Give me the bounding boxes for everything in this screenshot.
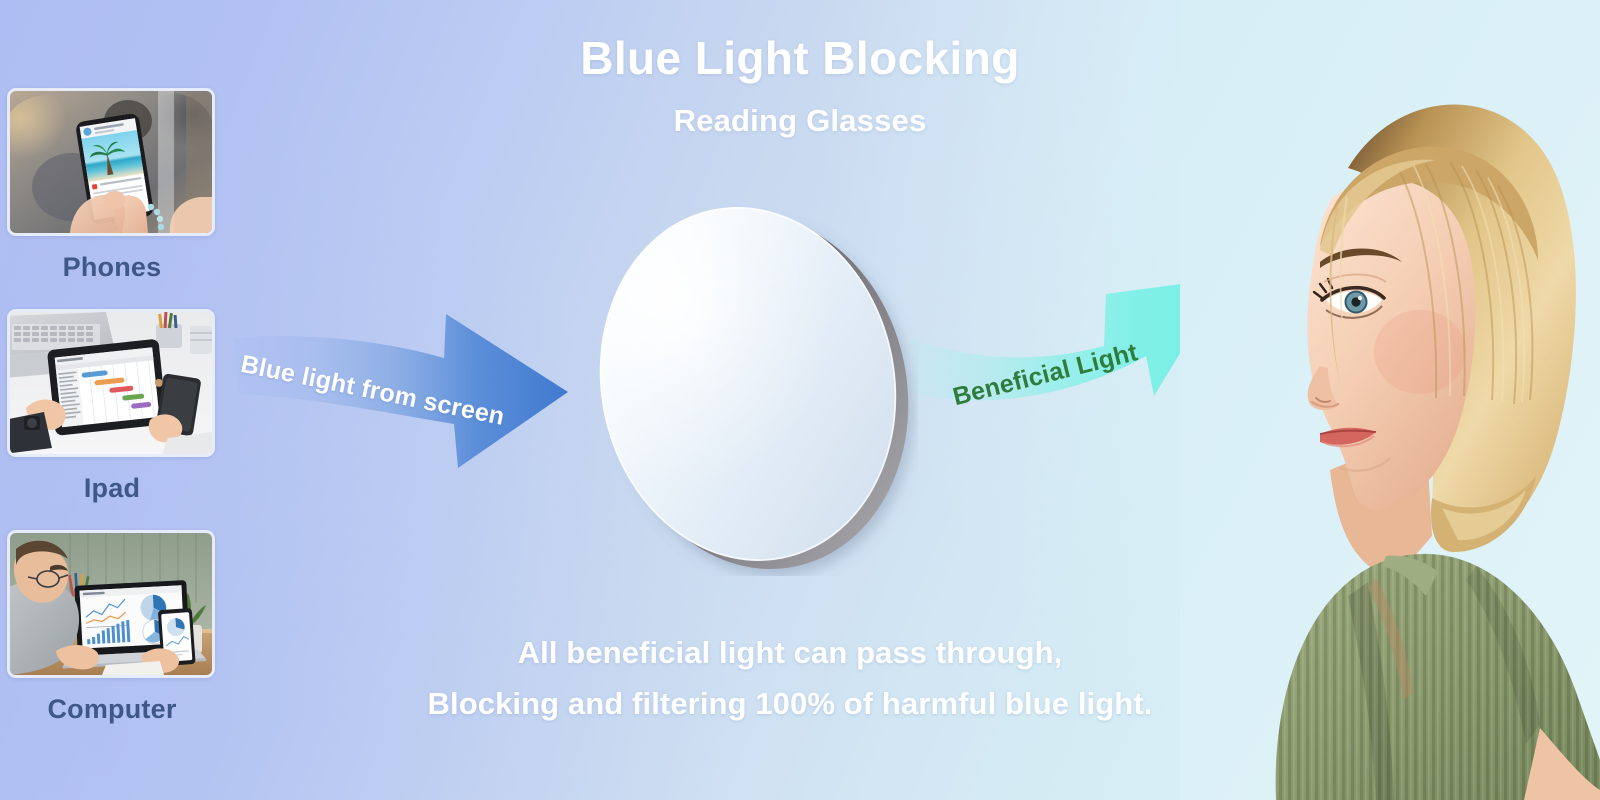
beneficial-light-arrow-label: Beneficial Light (950, 338, 1141, 412)
device-card-phones: Phones (7, 88, 217, 303)
laptop-thumbnail (7, 530, 215, 678)
claims-text: All beneficial light can pass through, B… (340, 628, 1240, 729)
device-list: Phones (7, 88, 217, 751)
device-label-computer: Computer (7, 678, 217, 745)
tablet-thumbnail (7, 309, 215, 457)
product-poster: Blue Light Blocking Reading Glasses (0, 0, 1600, 800)
device-card-computer: Computer (7, 530, 217, 745)
blue-light-blocking-lens (588, 196, 918, 576)
model-photo (1180, 0, 1600, 800)
device-label-ipad: Ipad (7, 457, 217, 524)
phone-thumbnail (7, 88, 215, 236)
claim-line-1: All beneficial light can pass through, (340, 628, 1240, 679)
claim-line-2: Blocking and filtering 100% of harmful b… (340, 679, 1240, 730)
device-label-phones: Phones (7, 236, 217, 303)
device-card-ipad: Ipad (7, 309, 217, 524)
blue-light-arrow-label: Blue light from screen (238, 350, 507, 432)
